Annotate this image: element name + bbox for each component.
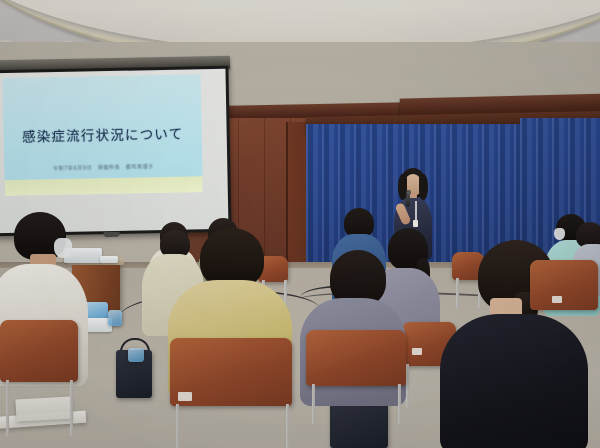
chair-leg (70, 380, 73, 436)
chair-leg (286, 404, 289, 448)
attendee-torso (440, 314, 588, 448)
chair-leg (312, 384, 315, 424)
chair-label-tag (552, 296, 562, 303)
lecture-hall-photo: 感染症流行状況について 令和7年6月9日 保健所長 都司真理子 (0, 0, 600, 448)
chair-leg (6, 380, 9, 436)
microphone-head-icon (406, 190, 411, 195)
chair (530, 260, 598, 310)
chair-label-tag (412, 348, 422, 355)
supply-tray (100, 256, 118, 263)
supply-tray (128, 348, 144, 362)
chair (0, 320, 78, 382)
chair-leg (398, 384, 401, 424)
name-badge (413, 220, 418, 227)
attendee-hair (200, 228, 264, 288)
face-mask (554, 228, 565, 240)
lanyard (415, 201, 417, 221)
white-side-table (15, 397, 72, 422)
presenter-hair-side (419, 174, 428, 200)
chair-leg (176, 404, 179, 448)
chair (306, 330, 406, 386)
projection-screen: 感染症流行状況について 令和7年6月9日 保健所長 都司真理子 (0, 66, 232, 237)
presentation-slide: 感染症流行状況について 令和7年6月9日 保健所長 都司真理子 (3, 74, 203, 196)
slide-subtitle: 令和7年6月9日 保健所長 都司真理子 (53, 163, 154, 172)
supply-tray (108, 310, 122, 326)
chair-label-tag (178, 392, 192, 401)
slide-title: 感染症流行状況について (22, 123, 184, 146)
screen-bottom-clip (104, 232, 120, 237)
handheld-microphone (406, 194, 410, 207)
face-mask (54, 238, 72, 258)
